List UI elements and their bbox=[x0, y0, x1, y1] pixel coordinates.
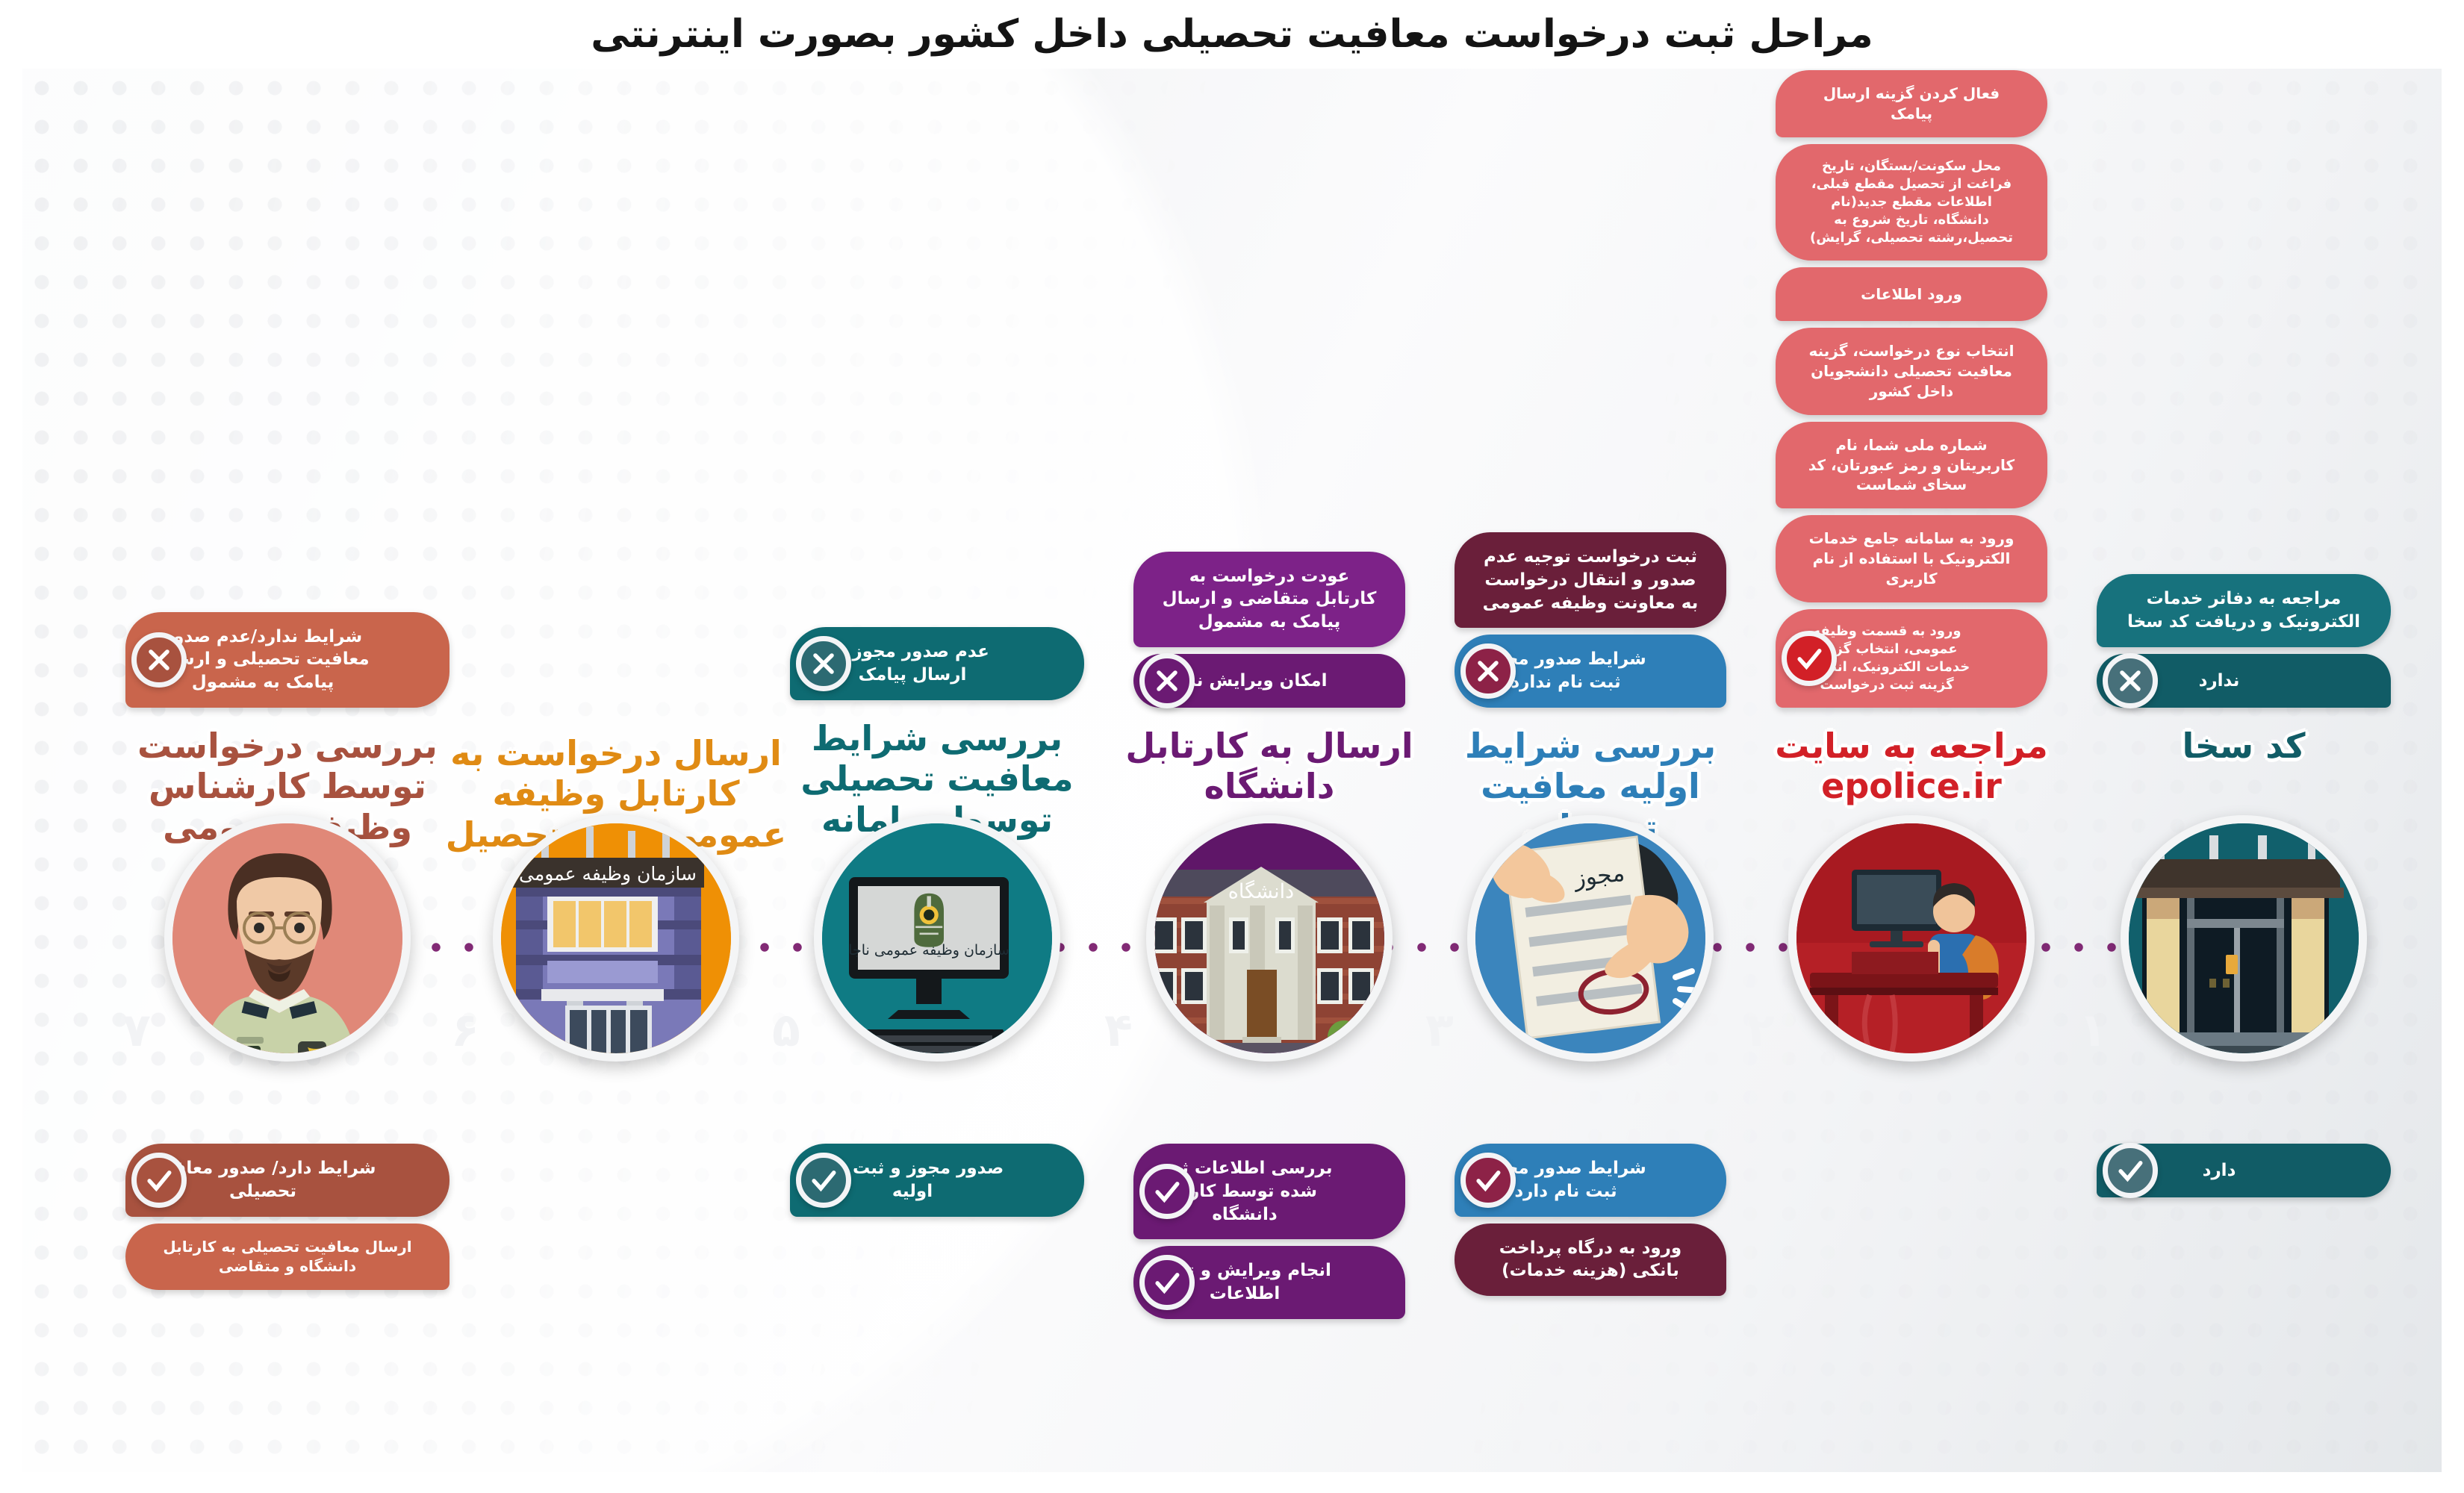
step-7-lower-pills: شرایط دارد/ صدور معافیت تحصیلیارسال معاف… bbox=[125, 1144, 449, 1290]
step-column-2: فعال کردن گزینه ارسال پیامکمحل سکونت/بست… bbox=[1762, 69, 2061, 1472]
step-column-1: مراجعه به دفاتر خدمات الکترونیک و دریافت… bbox=[2083, 69, 2404, 1472]
pill-label: ورود به درگاه پرداخت بانکی (هزینه خدمات) bbox=[1480, 1237, 1701, 1283]
step-number-value: ۱ bbox=[2079, 1003, 2107, 1057]
step-1-lower-pills: دارد bbox=[2097, 1144, 2391, 1197]
step-number-value: ۴ bbox=[1104, 1003, 1133, 1057]
step-1-illustration: ۱ bbox=[2121, 815, 2367, 1062]
step-1-pill-1[interactable]: مراجعه به دفاتر خدمات الکترونیک و دریافت… bbox=[2097, 574, 2391, 647]
permit-document-hands-icon: مجوز bbox=[1475, 823, 1705, 1053]
pill-label: فعال کردن گزینه ارسال پیامک bbox=[1801, 84, 2022, 124]
pill-label: ندارد bbox=[2199, 670, 2240, 693]
step-4-title: ارسال به کارتابل دانشگاه bbox=[1120, 726, 1419, 807]
step-7-upper-pills: شرایط ندارد/عدم صدور معافیت تحصیلی و ارس… bbox=[125, 612, 449, 708]
step-3-illustration: مجوز ۳ bbox=[1467, 815, 1714, 1062]
check-icon bbox=[1460, 1153, 1516, 1208]
cross-icon bbox=[1139, 653, 1195, 708]
step-3-upper-pills: ثبت درخواست توجیه عدم صدور و انتقال درخو… bbox=[1455, 532, 1726, 708]
office-building-icon: سازمان وظیفه عمومی bbox=[501, 823, 731, 1053]
step-6-illustration: سازمان وظیفه عمومی ۶ bbox=[493, 815, 739, 1062]
step-7-result-pill-2[interactable]: ارسال معافیت تحصیلی به کارتابل دانشگاه و… bbox=[125, 1224, 449, 1291]
step-2-title: مراجعه به سایت epolice.ir bbox=[1762, 726, 2061, 807]
check-icon bbox=[796, 1153, 851, 1208]
step-4-result-pill-2[interactable]: انجام ویرایش و تایید اطلاعات bbox=[1133, 1246, 1405, 1319]
step-2-pill-6[interactable]: ورود به سامانه جامع خدمات الکترونیک با ا… bbox=[1776, 515, 2047, 602]
pill-label: ورود به سامانه جامع خدمات الکترونیک با ا… bbox=[1801, 529, 2022, 588]
step-3-result-pill-2[interactable]: ورود به درگاه پرداخت بانکی (هزینه خدمات) bbox=[1455, 1224, 1726, 1297]
step-5-result-pill-1[interactable]: صدور مجوز و ثبت نام اولیه bbox=[790, 1144, 1084, 1217]
step-2-pill-2[interactable]: محل سکونت/بستگان، تاریخ فراغت از تحصیل م… bbox=[1776, 144, 2047, 261]
cross-icon bbox=[796, 636, 851, 691]
step-3-pill-1[interactable]: ثبت درخواست توجیه عدم صدور و انتقال درخو… bbox=[1455, 532, 1726, 628]
step-column-7: شرایط ندارد/عدم صدور معافیت تحصیلی و ارس… bbox=[112, 69, 463, 1472]
step-2-illustration: ۲ bbox=[1788, 815, 2035, 1062]
university-building-icon: دانشگاه bbox=[1154, 823, 1384, 1053]
step-4-number: ۴ bbox=[1104, 1003, 1133, 1057]
step-number-value: ۷ bbox=[122, 1003, 151, 1057]
step-4-result-pill-1[interactable]: بررسی اطلاعات ثبت شده توسط کاربر دانشگاه bbox=[1133, 1144, 1405, 1239]
pill-label: محل سکونت/بستگان، تاریخ فراغت از تحصیل م… bbox=[1801, 158, 2022, 248]
pill-label: ارسال معافیت تحصیلی به کارتابل دانشگاه و… bbox=[151, 1237, 424, 1277]
desktop-computer-icon: سازمان وظیفه عمومی ناجا bbox=[822, 823, 1052, 1053]
step-5-pill-1[interactable]: عدم صدور مجوز و ارسال پیامک bbox=[790, 627, 1084, 700]
student-at-computer-desk-icon bbox=[1796, 823, 2026, 1053]
step-7-pill-1[interactable]: شرایط ندارد/عدم صدور معافیت تحصیلی و ارس… bbox=[125, 612, 449, 708]
step-3-result-pill-1[interactable]: شرایط صدور مجوز ثبت نام دارد bbox=[1455, 1144, 1726, 1217]
police-station-building-icon bbox=[2129, 823, 2359, 1053]
cross-icon bbox=[1460, 643, 1516, 699]
step-5-upper-pills: عدم صدور مجوز و ارسال پیامک bbox=[790, 627, 1084, 700]
step-1-pill-2[interactable]: ندارد bbox=[2097, 654, 2391, 708]
officer-avatar-icon bbox=[172, 823, 402, 1053]
pill-label: عودت درخواست به کارتابل متقاضی و ارسال پ… bbox=[1159, 565, 1380, 634]
step-4-pill-1[interactable]: عودت درخواست به کارتابل متقاضی و ارسال پ… bbox=[1133, 552, 1405, 647]
step-7-result-pill-1[interactable]: شرایط دارد/ صدور معافیت تحصیلی bbox=[125, 1144, 449, 1217]
svg-text:سازمان وظیفه عمومی: سازمان وظیفه عمومی bbox=[519, 863, 697, 885]
step-number-value: ۳ bbox=[1425, 1003, 1454, 1057]
step-2-upper-pills: فعال کردن گزینه ارسال پیامکمحل سکونت/بست… bbox=[1776, 70, 2047, 708]
infographic-root: مراحل ثبت درخواست معافیت تحصیلی داخل کشو… bbox=[0, 0, 2464, 1493]
step-2-pill-1[interactable]: فعال کردن گزینه ارسال پیامک bbox=[1776, 70, 2047, 137]
step-2-pill-5[interactable]: شماره ملی شما، نام کاربریتان و رمز عبورت… bbox=[1776, 422, 2047, 508]
step-1-result-pill-1[interactable]: دارد bbox=[2097, 1144, 2391, 1197]
pill-label: انتخاب نوع درخواست، گزینه معافیت تحصیلی … bbox=[1801, 341, 2022, 401]
pill-label: مراجعه به دفاتر خدمات الکترونیک و دریافت… bbox=[2122, 587, 2365, 634]
page-title: مراحل ثبت درخواست معافیت تحصیلی داخل کشو… bbox=[591, 12, 1873, 57]
step-2-pill-3[interactable]: ورود اطلاعات bbox=[1776, 267, 2047, 321]
pill-label: ثبت درخواست توجیه عدم صدور و انتقال درخو… bbox=[1480, 546, 1701, 614]
page-title-bar: مراحل ثبت درخواست معافیت تحصیلی داخل کشو… bbox=[0, 0, 2464, 69]
check-icon bbox=[131, 1153, 187, 1208]
step-column-3: ثبت درخواست توجیه عدم صدور و انتقال درخو… bbox=[1441, 69, 1740, 1472]
step-5-illustration: سازمان وظیفه عمومی ناجا ۵ bbox=[814, 815, 1060, 1062]
svg-text:دانشگاه: دانشگاه bbox=[1228, 879, 1294, 903]
step-7-number: ۷ bbox=[122, 1003, 151, 1057]
step-3-pill-2[interactable]: شرایط صدور مجوز ثبت نام ندارد bbox=[1455, 635, 1726, 708]
pill-label: شماره ملی شما، نام کاربریتان و رمز عبورت… bbox=[1801, 435, 2022, 495]
step-4-pill-2[interactable]: امکان ویرایش ندارد bbox=[1133, 654, 1405, 708]
step-1-number: ۱ bbox=[2079, 1003, 2107, 1057]
step-number-value: ۲ bbox=[1746, 1003, 1775, 1057]
step-3-lower-pills: شرایط صدور مجوز ثبت نام داردورود به درگا… bbox=[1455, 1144, 1726, 1296]
infographic-canvas: مراجعه به دفاتر خدمات الکترونیک و دریافت… bbox=[22, 69, 2442, 1472]
step-2-pill-4[interactable]: انتخاب نوع درخواست، گزینه معافیت تحصیلی … bbox=[1776, 328, 2047, 414]
cross-icon bbox=[2103, 653, 2158, 708]
step-4-upper-pills: عودت درخواست به کارتابل متقاضی و ارسال پ… bbox=[1133, 552, 1405, 708]
check-icon bbox=[2103, 1143, 2158, 1198]
check-icon bbox=[1782, 631, 1837, 686]
svg-text:سازمان وظیفه عمومی ناجا: سازمان وظیفه عمومی ناجا bbox=[848, 942, 1009, 959]
step-5-lower-pills: صدور مجوز و ثبت نام اولیه bbox=[790, 1144, 1084, 1217]
step-3-number: ۳ bbox=[1425, 1003, 1454, 1057]
step-column-6: ارسال درخواست به کارتابل وظیفه عمومی محل… bbox=[441, 69, 791, 1472]
step-7-illustration: ۷ bbox=[164, 815, 411, 1062]
step-2-number: ۲ bbox=[1746, 1003, 1775, 1057]
pill-label: ورود اطلاعات bbox=[1861, 284, 1962, 305]
step-column-5: عدم صدور مجوز و ارسال پیامکبررسی شرایط م… bbox=[777, 69, 1098, 1472]
cross-icon bbox=[131, 632, 187, 688]
step-4-illustration: دانشگاه ۴ bbox=[1146, 815, 1393, 1062]
step-column-4: عودت درخواست به کارتابل متقاضی و ارسال پ… bbox=[1120, 69, 1419, 1472]
step-1-title: کد سخا bbox=[2083, 726, 2404, 766]
step-1-upper-pills: مراجعه به دفاتر خدمات الکترونیک و دریافت… bbox=[2097, 574, 2391, 708]
pill-label: دارد bbox=[2203, 1159, 2236, 1182]
step-2-pill-7[interactable]: ورود به قسمت وظیفه عمومی، انتخاب گزینه خ… bbox=[1776, 609, 2047, 708]
check-icon bbox=[1139, 1164, 1195, 1219]
check-icon bbox=[1139, 1255, 1195, 1310]
step-4-lower-pills: بررسی اطلاعات ثبت شده توسط کاربر دانشگاه… bbox=[1133, 1144, 1405, 1319]
